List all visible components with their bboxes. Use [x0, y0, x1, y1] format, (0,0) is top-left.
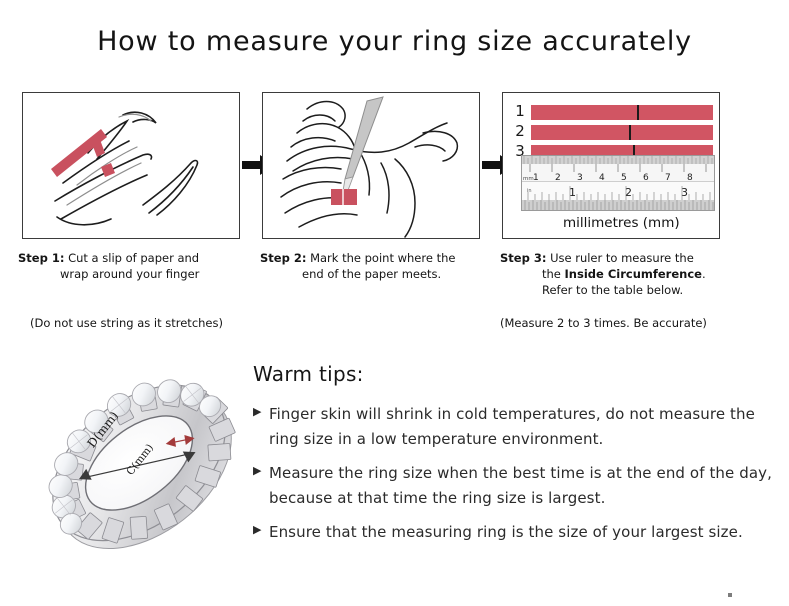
hand-with-paper-strip-drawing [23, 93, 239, 238]
paper-strip-on-finger [331, 189, 357, 205]
svg-text:2: 2 [555, 173, 561, 183]
step-3-line3: Refer to the table below. [500, 282, 750, 298]
tip-item: ▶ Finger skin will shrink in cold temper… [253, 402, 773, 452]
corner-artifact [728, 593, 732, 597]
tip-item: ▶ Measure the ring size when the best ti… [253, 461, 773, 511]
paper-strip-wrapped [91, 137, 115, 177]
steps-row: 1 2 3 [0, 92, 789, 242]
step-3-line2: the Inside Circumference. [500, 266, 750, 282]
tip-item: ▶ Ensure that the measuring ring is the … [253, 520, 773, 545]
strip-number: 1 [513, 102, 527, 120]
svg-text:mm: mm [523, 176, 534, 182]
step-2-line1: Mark the point where the [310, 251, 455, 265]
svg-text:6: 6 [643, 173, 649, 183]
warm-tips-heading: Warm tips: [253, 362, 773, 386]
step-3-note: (Measure 2 to 3 times. Be accurate) [500, 316, 707, 330]
strip-tick-mark [637, 105, 639, 120]
step-2-line2: end of the paper meets. [260, 266, 496, 282]
ring-diagram: D(mm) C(mm) [26, 352, 252, 574]
tip-text: Measure the ring size when the best time… [269, 461, 773, 511]
measured-strip-2: 2 [513, 125, 713, 140]
svg-text:5: 5 [621, 173, 627, 183]
svg-text:1: 1 [533, 173, 539, 183]
step-1-note: (Do not use string as it stretches) [30, 316, 223, 330]
svg-text:3: 3 [577, 173, 583, 183]
inside-circumference-emphasis: Inside Circumference [565, 267, 702, 281]
warm-tips-section: Warm tips: ▶ Finger skin will shrink in … [253, 362, 773, 554]
bullet-triangle-icon: ▶ [253, 402, 269, 417]
svg-text:8: 8 [687, 173, 693, 183]
measured-strip-1: 1 [513, 105, 713, 120]
step-2-illustration-panel [262, 92, 480, 239]
ruler-graphic: 123 456 78 mm 123 in [521, 155, 715, 211]
bullet-triangle-icon: ▶ [253, 461, 269, 476]
svg-text:4: 4 [599, 173, 605, 183]
ruler-scales: 123 456 78 mm 123 in [522, 156, 714, 210]
page-title: How to measure your ring size accurately [0, 26, 789, 57]
step-2-caption: Step 2: Mark the point where the end of … [260, 250, 496, 282]
strip-bar [531, 105, 713, 120]
svg-text:in: in [527, 188, 532, 194]
step-3-line2-suffix: . [702, 267, 706, 281]
strip-tick-mark [629, 125, 631, 140]
tip-text: Finger skin will shrink in cold temperat… [269, 402, 773, 452]
step-3-line1: Use ruler to measure the [550, 251, 694, 265]
strip-number: 2 [513, 122, 527, 140]
bullet-triangle-icon: ▶ [253, 520, 269, 535]
svg-text:7: 7 [665, 173, 671, 183]
step-3-line2-prefix: the [542, 267, 565, 281]
step-1-label: Step 1: [18, 251, 64, 265]
step-2-label: Step 2: [260, 251, 306, 265]
step-3-illustration-panel: 1 2 3 [502, 92, 720, 239]
step-1-line1: Cut a slip of paper and [68, 251, 199, 265]
step-1-illustration-panel [22, 92, 240, 239]
step-3-label: Step 3: [500, 251, 546, 265]
step-3-caption: Step 3: Use ruler to measure the the Ins… [500, 250, 750, 298]
strip-bar [531, 125, 713, 140]
hand-marking-paper-drawing [263, 93, 479, 238]
millimetres-caption: millimetres (mm) [563, 215, 680, 231]
step-1-caption: Step 1: Cut a slip of paper and wrap aro… [18, 250, 250, 282]
tip-text: Ensure that the measuring ring is the si… [269, 520, 773, 545]
step-1-line2: wrap around your finger [18, 266, 250, 282]
